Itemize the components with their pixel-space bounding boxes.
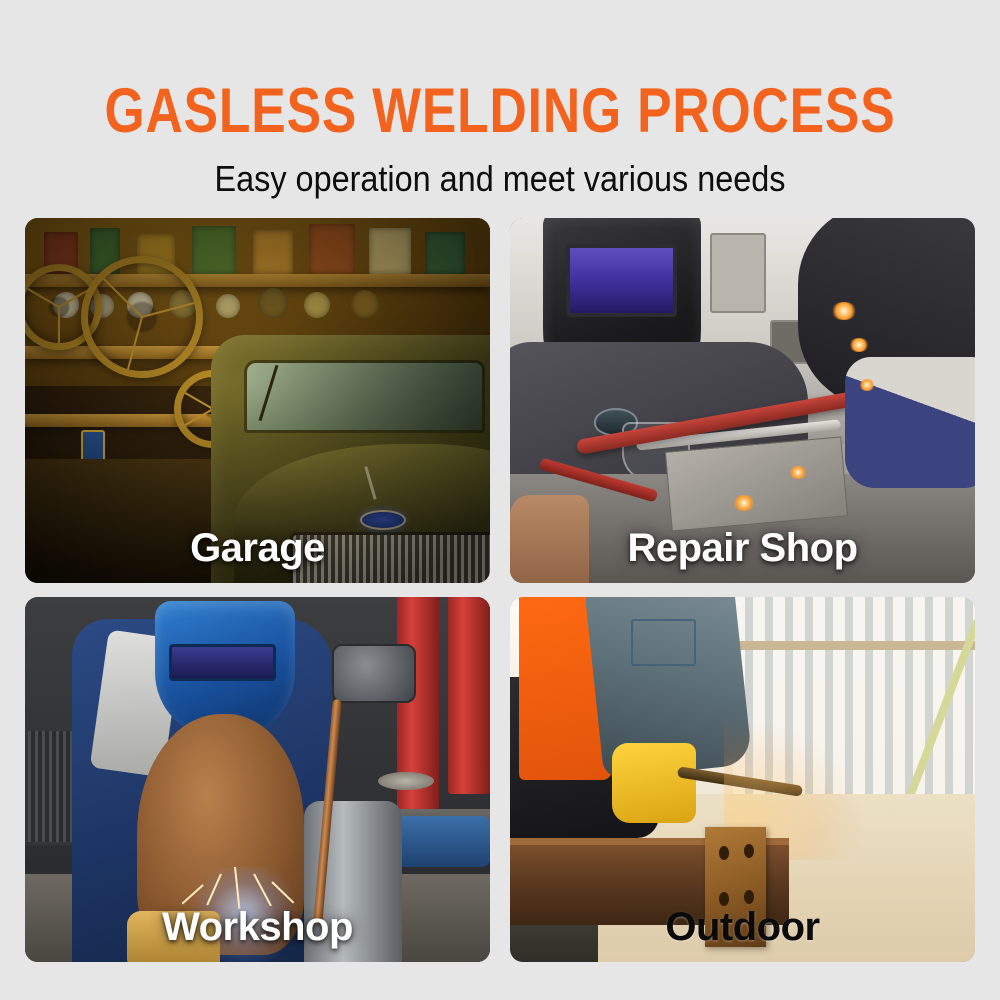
- fence-rail: [733, 641, 975, 650]
- weld-spark: [859, 379, 875, 391]
- panel-caption-garage: Garage: [25, 526, 490, 571]
- panel-caption-repair-shop: Repair Shop: [510, 526, 975, 571]
- manifold-valve: [332, 644, 416, 702]
- mask-label: [631, 619, 696, 666]
- bolt-hole: [744, 890, 754, 904]
- use-case-gallery: Garage: [25, 218, 975, 975]
- steel-plate: [665, 437, 848, 532]
- gallery-panel-repair-shop[interactable]: Repair Shop: [510, 218, 975, 583]
- header-block: GASLESS WELDING PROCESS Easy operation a…: [0, 0, 1000, 218]
- bolt-hole: [744, 844, 754, 858]
- yellow-glove: [612, 743, 696, 823]
- angle-grinder: [397, 816, 490, 867]
- helmet-lens: [566, 244, 678, 317]
- bolt-hole: [719, 892, 729, 906]
- gallery-panel-workshop[interactable]: Workshop: [25, 597, 490, 962]
- helmet-visor: [169, 644, 276, 681]
- gallery-panel-outdoor[interactable]: Outdoor: [510, 597, 975, 962]
- weld-spark: [831, 302, 857, 320]
- page-title: GASLESS WELDING PROCESS: [90, 78, 910, 144]
- welding-glove: [845, 357, 975, 488]
- bolt-hole: [719, 846, 729, 860]
- page-subtitle: Easy operation and meet various needs: [50, 158, 950, 200]
- wall-switch-box: [710, 233, 766, 313]
- panel-caption-workshop: Workshop: [25, 905, 490, 950]
- panel-caption-outdoor: Outdoor: [510, 905, 975, 950]
- gallery-panel-garage[interactable]: Garage: [25, 218, 490, 583]
- gas-cylinder: [448, 597, 490, 794]
- marketing-infographic: GASLESS WELDING PROCESS Easy operation a…: [0, 0, 1000, 1000]
